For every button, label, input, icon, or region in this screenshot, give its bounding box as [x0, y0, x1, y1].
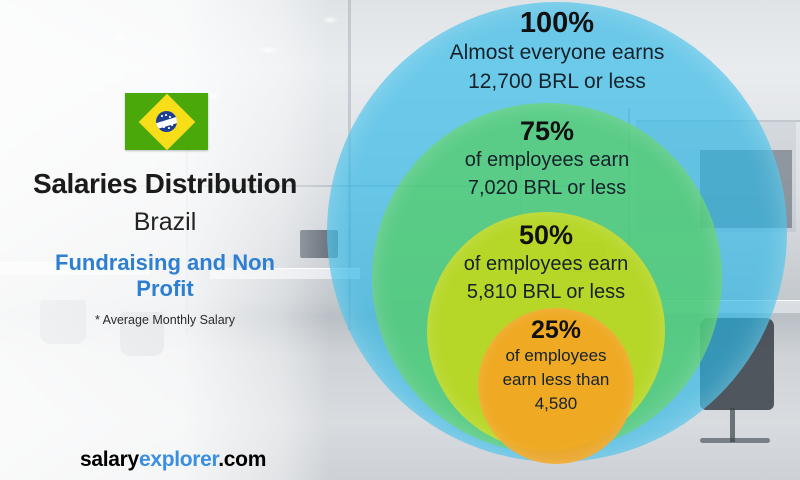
bubble-50-line1: of employees earn [413, 250, 679, 278]
flag-globe [156, 111, 177, 132]
bubble-50-percent-label: 50% [413, 220, 679, 250]
logo-part-explorer: explorer [139, 448, 218, 471]
info-panel: Salaries Distribution Brazil Fundraising… [0, 0, 330, 480]
bubble-100-text: 100% Almost everyone earns 12,700 BRL or… [327, 8, 787, 96]
bubble-25-text: 25% of employees earn less than 4,580 [468, 316, 644, 416]
salary-distribution-infographic: 100% Almost everyone earns 12,700 BRL or… [0, 0, 800, 480]
bubble-100-line2: 12,700 BRL or less [327, 67, 787, 96]
bubble-25-line1: of employees [468, 344, 644, 368]
bubble-75-line2: 7,020 BRL or less [372, 174, 722, 202]
footnote: * Average Monthly Salary [0, 313, 330, 327]
page-title: Salaries Distribution [0, 168, 330, 200]
logo-part-domain: .com [218, 448, 266, 471]
site-logo[interactable]: salaryexplorer.com [80, 448, 266, 472]
bubble-25-percent: 25% of employees earn less than 4,580 [478, 308, 634, 464]
country-label: Brazil [0, 208, 330, 237]
bubble-25-percent-label: 25% [468, 316, 644, 344]
bubble-75-percent-label: 75% [372, 116, 722, 146]
bubble-50-line2: 5,810 BRL or less [413, 278, 679, 306]
bubble-100-percent-label: 100% [327, 8, 787, 38]
bubble-50-text: 50% of employees earn 5,810 BRL or less [413, 220, 679, 306]
brazil-flag-icon [125, 93, 208, 150]
job-category-label: Fundraising and Non Profit [25, 250, 305, 302]
bubble-75-text: 75% of employees earn 7,020 BRL or less [372, 116, 722, 202]
bubble-25-line2: earn less than [468, 368, 644, 392]
bubble-100-line1: Almost everyone earns [327, 38, 787, 67]
bubble-75-line1: of employees earn [372, 146, 722, 174]
logo-part-salary: salary [80, 448, 139, 471]
bubble-25-line3: 4,580 [468, 392, 644, 416]
